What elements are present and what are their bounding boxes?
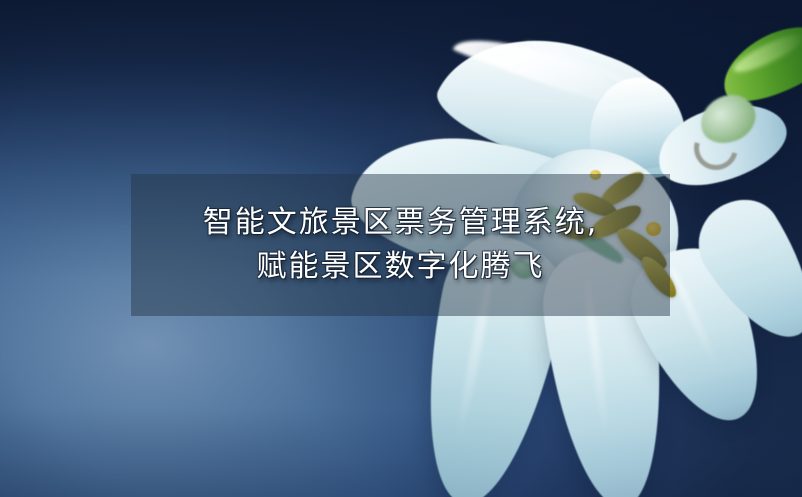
caption-line-1: 智能文旅景区票务管理系统, bbox=[203, 201, 599, 245]
banner-image: 智能文旅景区票务管理系统, 赋能景区数字化腾飞 bbox=[0, 0, 802, 497]
caption-line-2: 赋能景区数字化腾飞 bbox=[257, 245, 545, 289]
caption-overlay-panel: 智能文旅景区票务管理系统, 赋能景区数字化腾飞 bbox=[131, 174, 670, 316]
